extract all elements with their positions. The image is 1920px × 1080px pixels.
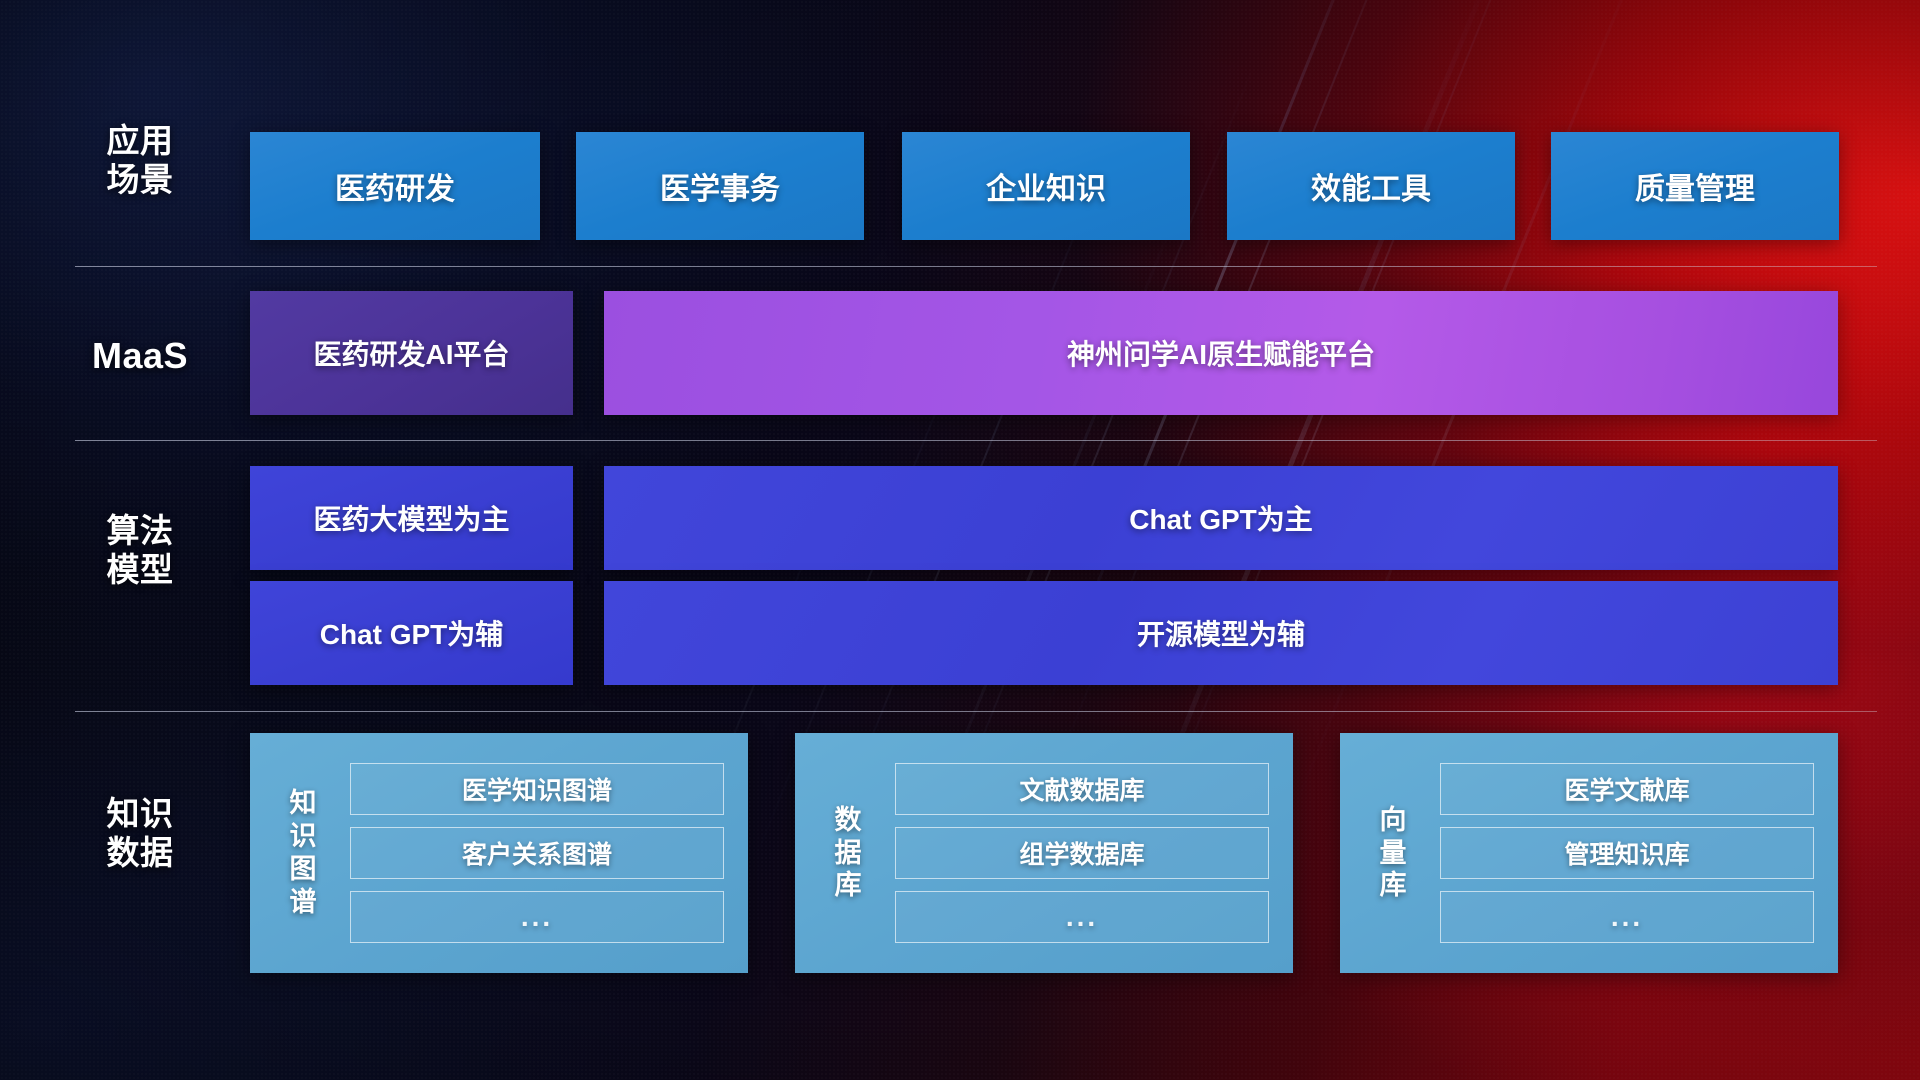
scenario-card-3[interactable]: 效能工具 bbox=[1227, 132, 1515, 240]
knowledge-panel-vector-store-items: 医学文献库 管理知识库 ... bbox=[1422, 747, 1838, 959]
knowledge-item-more-0[interactable]: ... bbox=[350, 891, 724, 943]
scenario-card-4-label: 质量管理 bbox=[1635, 164, 1755, 208]
knowledge-item-literature-database[interactable]: 文献数据库 bbox=[895, 763, 1269, 815]
knowledge-item-more-2[interactable]: ... bbox=[1440, 891, 1814, 943]
scenario-card-0[interactable]: 医药研发 bbox=[250, 132, 540, 240]
scenario-card-3-label: 效能工具 bbox=[1311, 164, 1431, 208]
maas-card-medical-rd-platform[interactable]: 医药研发AI平台 bbox=[250, 291, 573, 415]
knowledge-item-more-1[interactable]: ... bbox=[895, 891, 1269, 943]
knowledge-panel-database-title: 数 据 库 bbox=[819, 804, 877, 903]
algo-card-medical-llm-primary-label: 医药大模型为主 bbox=[313, 498, 509, 538]
algo-card-opensource-secondary-label: 开源模型为辅 bbox=[1137, 613, 1305, 653]
knowledge-item-omics-database-label: 组学数据库 bbox=[1019, 835, 1144, 871]
algo-card-opensource-secondary[interactable]: 开源模型为辅 bbox=[604, 581, 1838, 685]
knowledge-item-customer-relation-graph-label: 客户关系图谱 bbox=[462, 835, 612, 871]
maas-card-shenzhou-platform[interactable]: 神州问学AI原生赋能平台 bbox=[604, 291, 1838, 415]
row-label-algorithm-model: 算法 模型 bbox=[75, 512, 205, 590]
divider-row2-row3 bbox=[75, 440, 1877, 441]
knowledge-item-management-knowledge-store[interactable]: 管理知识库 bbox=[1440, 827, 1814, 879]
knowledge-panel-vector-store[interactable]: 向 量 库 医学文献库 管理知识库 ... bbox=[1340, 733, 1838, 973]
knowledge-panel-vector-store-title: 向 量 库 bbox=[1364, 804, 1422, 903]
knowledge-item-customer-relation-graph[interactable]: 客户关系图谱 bbox=[350, 827, 724, 879]
row-label-application-scenarios: 应用 场景 bbox=[75, 122, 205, 200]
knowledge-panel-database[interactable]: 数 据 库 文献数据库 组学数据库 ... bbox=[795, 733, 1293, 973]
scenario-card-2-label: 企业知识 bbox=[986, 164, 1106, 208]
knowledge-panel-knowledge-graph[interactable]: 知 识 图 谱 医学知识图谱 客户关系图谱 ... bbox=[250, 733, 748, 973]
scenario-card-2[interactable]: 企业知识 bbox=[902, 132, 1190, 240]
knowledge-item-omics-database[interactable]: 组学数据库 bbox=[895, 827, 1269, 879]
knowledge-item-medical-literature-store[interactable]: 医学文献库 bbox=[1440, 763, 1814, 815]
knowledge-panel-knowledge-graph-title: 知 识 图 谱 bbox=[274, 787, 332, 919]
divider-row1-row2 bbox=[75, 266, 1877, 267]
algo-card-chatgpt-secondary[interactable]: Chat GPT为辅 bbox=[250, 581, 573, 685]
algo-card-medical-llm-primary[interactable]: 医药大模型为主 bbox=[250, 466, 573, 570]
maas-card-shenzhou-platform-label: 神州问学AI原生赋能平台 bbox=[1067, 333, 1375, 373]
knowledge-panel-knowledge-graph-items: 医学知识图谱 客户关系图谱 ... bbox=[332, 747, 748, 959]
scenario-card-0-label: 医药研发 bbox=[335, 164, 455, 208]
architecture-diagram: 应用 场景 医药研发 医学事务 企业知识 效能工具 质量管理 MaaS 医药研发… bbox=[0, 0, 1920, 1080]
scenario-card-1[interactable]: 医学事务 bbox=[576, 132, 864, 240]
row-label-maas: MaaS bbox=[75, 335, 205, 377]
divider-row3-row4 bbox=[75, 711, 1877, 712]
scenario-card-1-label: 医学事务 bbox=[660, 164, 780, 208]
scenario-card-4[interactable]: 质量管理 bbox=[1551, 132, 1839, 240]
knowledge-item-literature-database-label: 文献数据库 bbox=[1019, 771, 1144, 807]
knowledge-item-medical-knowledge-graph[interactable]: 医学知识图谱 bbox=[350, 763, 724, 815]
maas-card-medical-rd-platform-label: 医药研发AI平台 bbox=[313, 333, 509, 373]
knowledge-item-more-0-label: ... bbox=[521, 901, 553, 933]
row-label-knowledge-data: 知识 数据 bbox=[75, 795, 205, 873]
knowledge-item-medical-knowledge-graph-label: 医学知识图谱 bbox=[462, 771, 612, 807]
knowledge-item-more-2-label: ... bbox=[1611, 901, 1643, 933]
knowledge-panel-database-items: 文献数据库 组学数据库 ... bbox=[877, 747, 1293, 959]
algo-card-chatgpt-primary[interactable]: Chat GPT为主 bbox=[604, 466, 1838, 570]
knowledge-item-medical-literature-store-label: 医学文献库 bbox=[1564, 771, 1689, 807]
algo-card-chatgpt-primary-label: Chat GPT为主 bbox=[1129, 498, 1313, 538]
knowledge-item-management-knowledge-store-label: 管理知识库 bbox=[1564, 835, 1689, 871]
knowledge-item-more-1-label: ... bbox=[1066, 901, 1098, 933]
algo-card-chatgpt-secondary-label: Chat GPT为辅 bbox=[320, 613, 504, 653]
